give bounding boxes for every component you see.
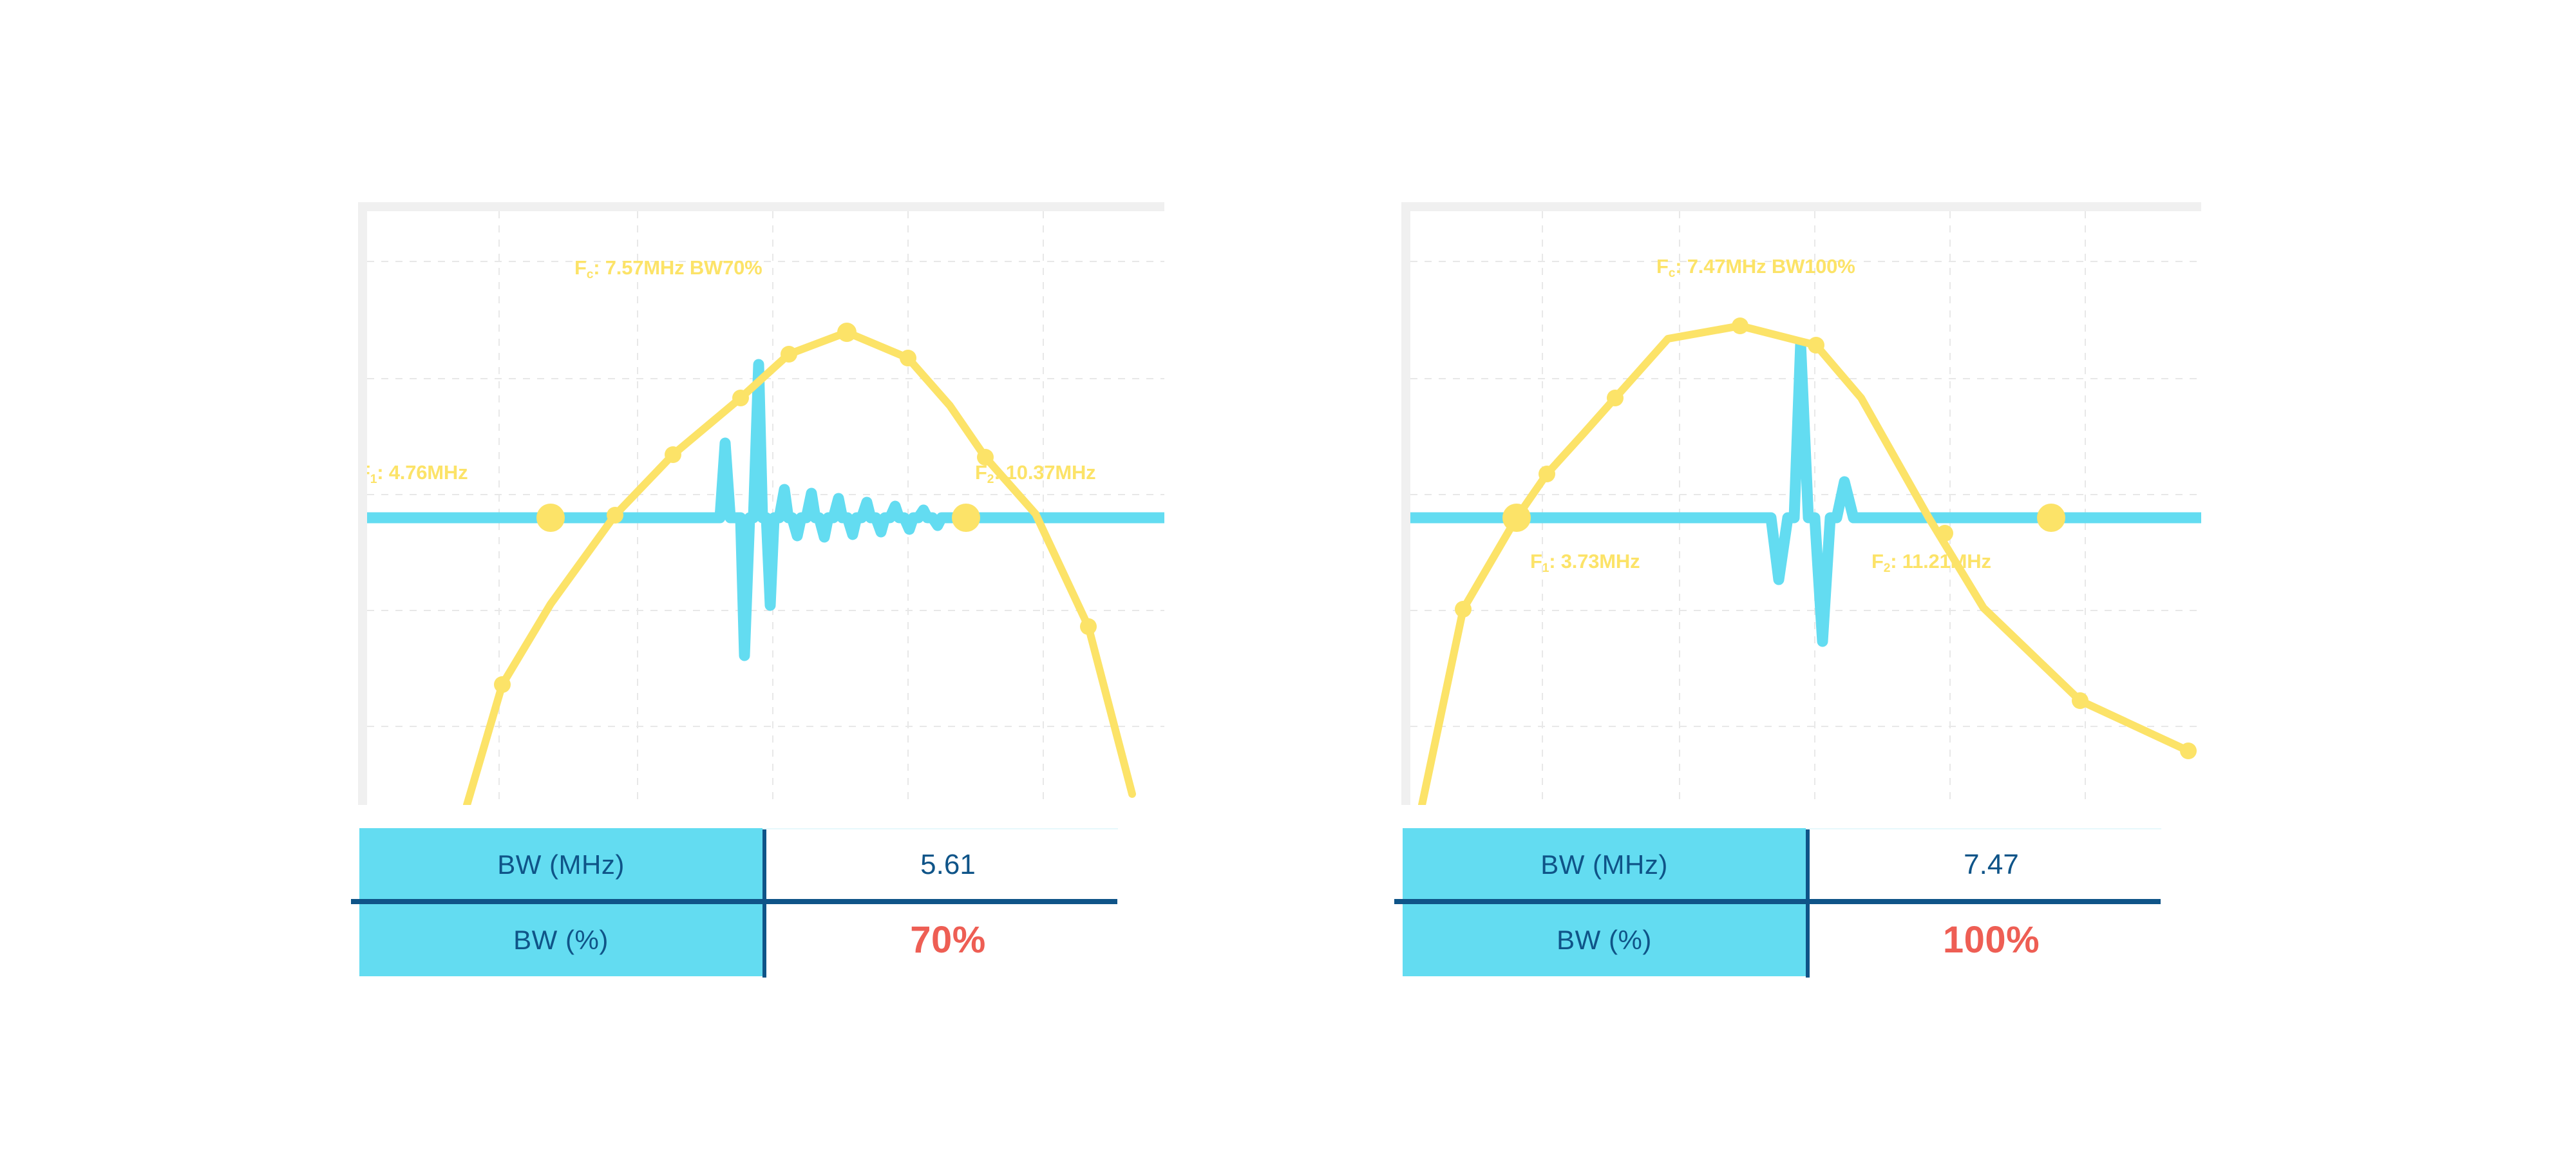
annotation-f1-left: F1: 4.76MHz	[367, 462, 468, 486]
panel-left: Fc: 7.57MHz BW70% F1: 4.76MHz F2: 10.37M…	[335, 0, 1236, 1154]
bw-table-left: BW (MHz) BW (%) 5.61 70%	[346, 823, 1209, 1036]
table-row-value-bw-percent: 70%	[768, 903, 1128, 976]
table-row-label-bw-percent: BW (%)	[359, 903, 762, 976]
f1-subscript: 1	[370, 473, 377, 486]
f1-text: : 3.73MHz	[1549, 550, 1640, 572]
table-row-label-bw-percent: BW (%)	[1403, 903, 1806, 976]
pulse-trace-left	[367, 364, 1164, 656]
figure-canvas: Fc: 7.57MHz BW70% F1: 4.76MHz F2: 10.37M…	[0, 0, 2576, 1154]
f1-subscript: 1	[1542, 562, 1549, 575]
marker-f2	[952, 504, 980, 532]
f1-text: : 4.76MHz	[377, 461, 468, 484]
table-horizontal-rule	[351, 899, 1117, 904]
marker-f2	[2037, 504, 2065, 532]
chart-svg-left	[367, 211, 1164, 805]
fc-text: : 7.47MHz BW100%	[1675, 255, 1855, 278]
marker-f1	[536, 504, 565, 532]
table-horizontal-rule	[1394, 899, 2161, 904]
value-text: 100%	[1943, 918, 2040, 961]
value-text: 7.47	[1964, 849, 2019, 881]
annotation-fc-right: Fc: 7.47MHz BW100%	[1656, 256, 1855, 279]
value-text: 5.61	[920, 849, 976, 881]
f2-subscript: 2	[1884, 562, 1890, 575]
value-text: 70%	[910, 918, 986, 961]
table-vertical-rule	[762, 829, 766, 978]
f2-text: : 11.21MHz	[1890, 550, 1991, 572]
fc-subscript: c	[587, 268, 593, 281]
f2-prefix: F	[975, 461, 987, 484]
table-row-label-bw-mhz: BW (MHz)	[1403, 828, 1806, 901]
label-text: BW (MHz)	[1540, 849, 1668, 880]
f1-prefix: F	[1530, 550, 1542, 572]
annotation-f1-right: F1: 3.73MHz	[1530, 551, 1640, 574]
bw-table-right: BW (MHz) BW (%) 7.47 100%	[1390, 823, 2253, 1036]
annotation-f2-left: F2: 10.37MHz	[975, 462, 1095, 486]
spectrum-trace-left	[467, 332, 1132, 805]
fc-prefix: F	[1656, 255, 1669, 278]
chart-frame-left: Fc: 7.57MHz BW70% F1: 4.76MHz F2: 10.37M…	[358, 202, 1164, 805]
plot-area-left: Fc: 7.57MHz BW70% F1: 4.76MHz F2: 10.37M…	[367, 211, 1164, 805]
chart-svg-right	[1410, 211, 2201, 805]
marker-f1	[1502, 504, 1531, 532]
label-text: BW (MHz)	[497, 849, 625, 880]
table-row-value-bw-mhz: 7.47	[1811, 828, 2172, 901]
pulse-trace-right	[1410, 344, 2201, 641]
table-row-value-bw-mhz: 5.61	[768, 828, 1128, 901]
f2-subscript: 2	[987, 473, 994, 486]
panel-right: Fc: 7.47MHz BW100% F1: 3.73MHz F2: 11.21…	[1378, 0, 2280, 1154]
annotation-fc-left: Fc: 7.57MHz BW70%	[574, 258, 762, 281]
fc-subscript: c	[1669, 267, 1675, 280]
chart-frame-right: Fc: 7.47MHz BW100% F1: 3.73MHz F2: 11.21…	[1401, 202, 2201, 805]
f2-prefix: F	[1871, 550, 1884, 572]
fc-prefix: F	[574, 256, 587, 279]
table-row-value-bw-percent: 100%	[1811, 903, 2172, 976]
plot-area-right: Fc: 7.47MHz BW100% F1: 3.73MHz F2: 11.21…	[1410, 211, 2201, 805]
fc-text: : 7.57MHz BW70%	[593, 256, 762, 279]
f2-text: : 10.37MHz	[994, 461, 1095, 484]
table-vertical-rule	[1806, 829, 1810, 978]
label-text: BW (%)	[513, 925, 609, 956]
label-text: BW (%)	[1557, 925, 1652, 956]
table-row-label-bw-mhz: BW (MHz)	[359, 828, 762, 901]
annotation-f2-right: F2: 11.21MHz	[1871, 551, 1991, 574]
